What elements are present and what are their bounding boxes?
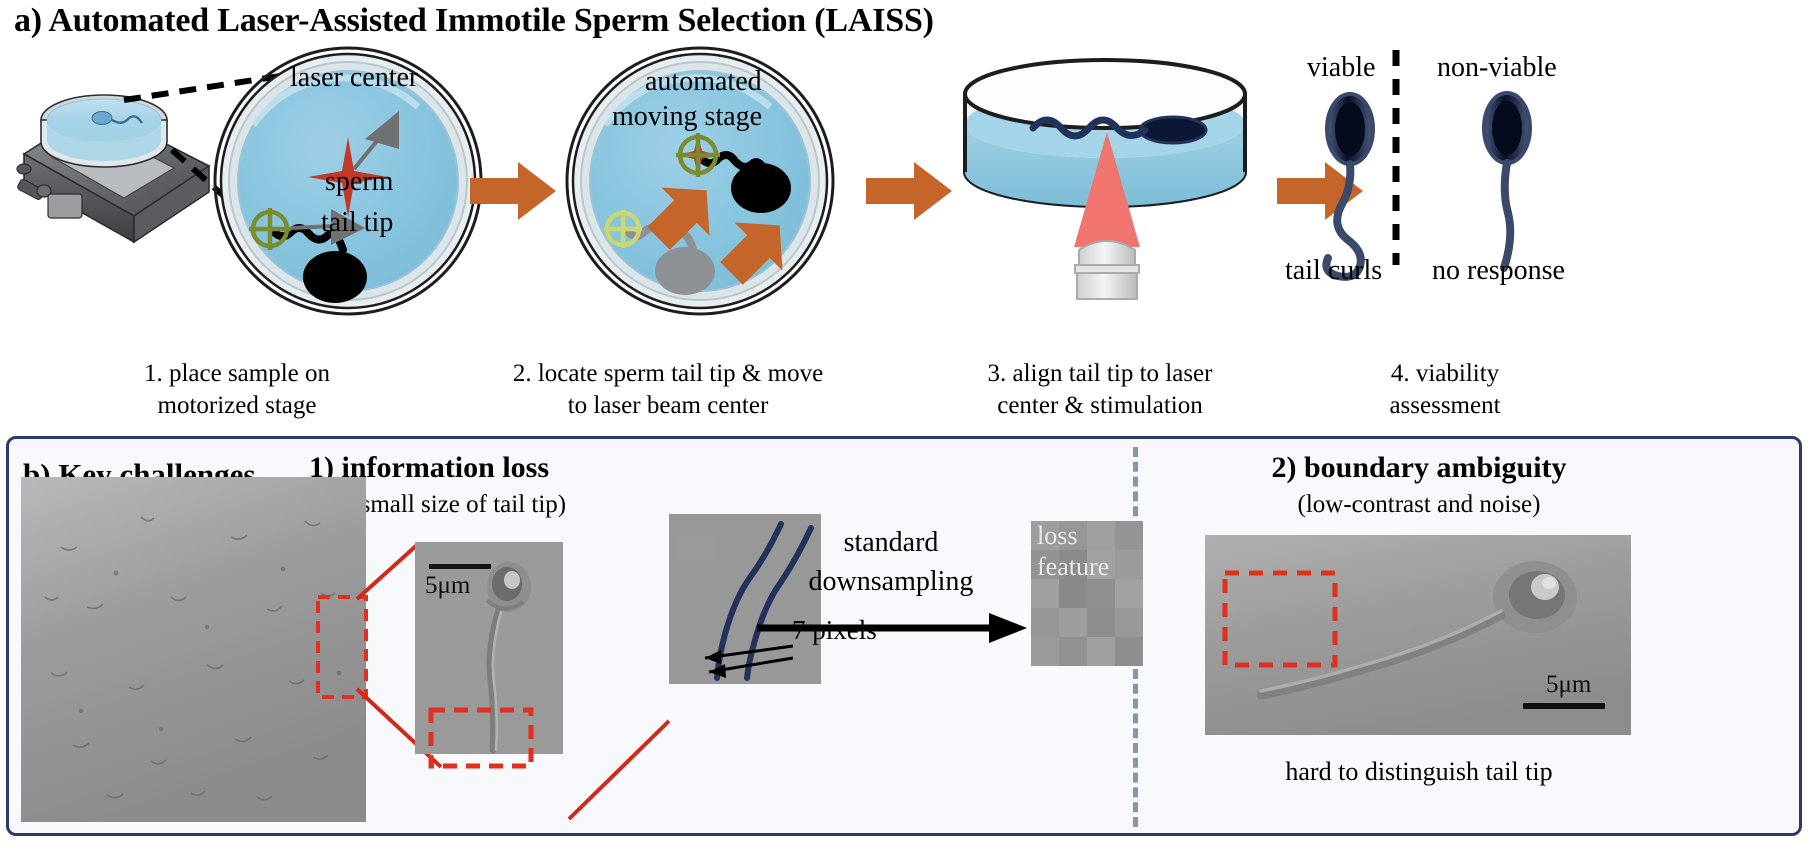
- step-caption-4: 4. viability assessment: [1320, 358, 1570, 422]
- label-tail-curls: tail curls: [1285, 255, 1382, 287]
- step-2-line1: 2. locate sperm tail tip & move: [468, 358, 868, 390]
- label-no-response: no response: [1432, 255, 1565, 287]
- panel-b: b) Key challenges 1) information loss (s…: [6, 436, 1802, 836]
- objective-lens: [1075, 241, 1139, 299]
- step-caption-1: 1. place sample on motorized stage: [106, 358, 368, 422]
- scale-bar-label-right: 5μm: [1546, 671, 1591, 699]
- challenge-2-subheading: (low-contrast and noise): [1199, 491, 1639, 519]
- flow-arrow-2: [866, 160, 952, 222]
- widefield-microscopy-image: [21, 477, 366, 822]
- boundary-ambiguity-image: [1205, 535, 1631, 735]
- figure-root: a) Automated Laser-Assisted Immotile Spe…: [0, 0, 1810, 842]
- step-3-line2: center & stimulation: [925, 390, 1275, 422]
- panel-a: a) Automated Laser-Assisted Immotile Spe…: [0, 0, 1810, 432]
- boundary-ambiguity-caption: hard to distinguish tail tip: [1199, 757, 1639, 787]
- viability-divider-dashed: [1390, 50, 1402, 265]
- label-downsampling-line2: downsampling: [761, 566, 1021, 598]
- label-viable: viable: [1307, 52, 1375, 84]
- zoom-connector-2: [561, 669, 681, 829]
- sperm-non-viable-straight: [1455, 88, 1565, 278]
- step-caption-2: 2. locate sperm tail tip & move to laser…: [468, 358, 868, 422]
- scale-bar-label-left: 5μm: [425, 572, 470, 600]
- label-feature: feature: [1037, 552, 1109, 582]
- step-2-line2: to laser beam center: [468, 390, 868, 422]
- flow-arrow-1: [470, 160, 556, 222]
- label-sperm-line1: sperm: [325, 166, 393, 198]
- panel-a-title: a) Automated Laser-Assisted Immotile Spe…: [14, 2, 934, 40]
- label-automated: automated: [645, 66, 762, 98]
- step-caption-3: 3. align tail tip to laser center & stim…: [925, 358, 1275, 422]
- step-1-line1: 1. place sample on: [106, 358, 368, 390]
- laser-stimulation-setup: [955, 62, 1255, 302]
- label-laser-center: laser center: [290, 62, 418, 94]
- label-loss: loss: [1037, 521, 1077, 551]
- downsampling-arrow: [757, 611, 1027, 645]
- challenge-2-heading: 2) boundary ambiguity: [1199, 451, 1639, 485]
- step-4-line1: 4. viability: [1320, 358, 1570, 390]
- step-4-line2: assessment: [1320, 390, 1570, 422]
- step-1-line2: motorized stage: [106, 390, 368, 422]
- label-non-viable: non-viable: [1437, 52, 1557, 84]
- label-sperm-line2: tail tip: [321, 207, 393, 239]
- label-moving-stage: moving stage: [612, 101, 762, 133]
- step-3-line1: 3. align tail tip to laser: [925, 358, 1275, 390]
- label-downsampling-line1: standard: [801, 527, 981, 559]
